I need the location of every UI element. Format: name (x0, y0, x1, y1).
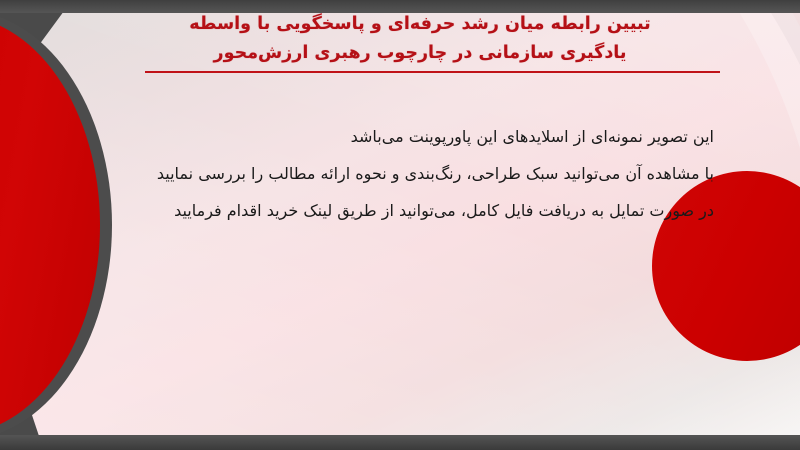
slide-title-line-1: تبیین رابطه میان رشد حرفه‌ای و پاسخگویی … (120, 10, 720, 39)
slide-body-line-3: در صورت تمایل به دریافت فایل کامل، می‌تو… (86, 192, 714, 229)
presentation-slide: تبیین رابطه میان رشد حرفه‌ای و پاسخگویی … (0, 0, 800, 450)
slide-frame-bottom (0, 435, 800, 450)
decorative-red-lens-left (0, 15, 100, 435)
slide-body-text: این تصویر نمونه‌ای از اسلایدهای این پاور… (86, 118, 714, 229)
slide-title: تبیین رابطه میان رشد حرفه‌ای و پاسخگویی … (120, 10, 720, 73)
slide-body-line-2: با مشاهده آن می‌توانید سبک طراحی، رنگ‌بن… (86, 155, 714, 192)
slide-body-line-1: این تصویر نمونه‌ای از اسلایدهای این پاور… (86, 118, 714, 155)
slide-title-line-2: یادگیری سازمانی در چارچوب رهبری ارزش‌محو… (120, 39, 720, 68)
title-underline-rule (145, 71, 720, 73)
